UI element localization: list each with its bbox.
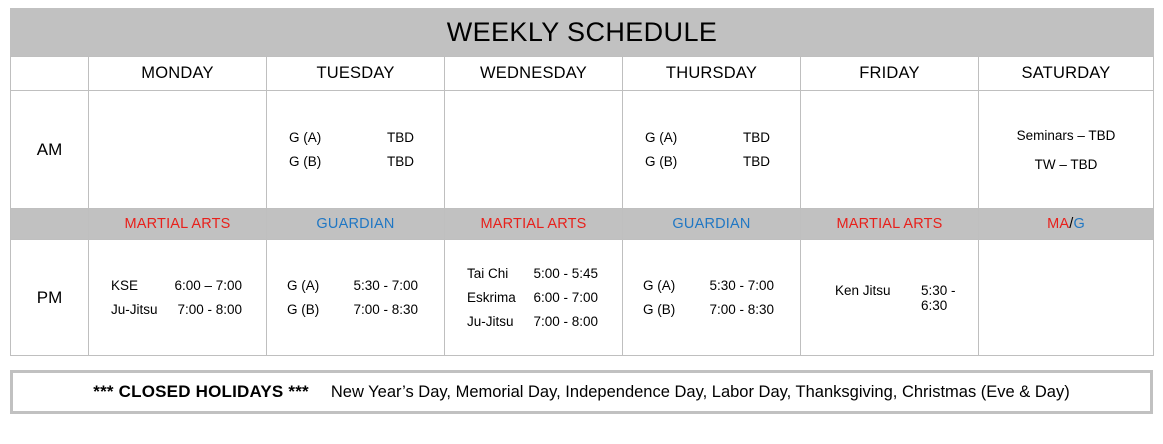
cell-am-friday <box>801 91 979 209</box>
schedule-entry: Ju-Jitsu 7:00 - 8:00 <box>111 302 246 317</box>
corner-header <box>11 57 89 91</box>
cell-pm-monday: KSE 6:00 – 7:00 Ju-Jitsu 7:00 - 8:00 <box>89 240 267 356</box>
entry-value: 5:30 - 6:30 <box>921 283 978 313</box>
entry-label: G (A) <box>287 278 319 293</box>
entry-label: G (A) <box>289 130 321 145</box>
day-header-wednesday: WEDNESDAY <box>445 57 623 91</box>
entry-label: Ju-Jitsu <box>467 314 514 329</box>
entry-value: 7:00 - 8:00 <box>177 302 246 317</box>
entry-label: Tai Chi <box>467 266 508 281</box>
schedule-entry: KSE 6:00 – 7:00 <box>111 278 246 293</box>
entry-value: 5:30 - 7:00 <box>709 278 778 293</box>
entry-value: 5:30 - 7:00 <box>353 278 422 293</box>
day-header-friday: FRIDAY <box>801 57 979 91</box>
schedule-entry: Ken Jitsu 5:30 - 6:30 <box>835 283 978 313</box>
discipline-band-row: MARTIAL ARTS GUARDIAN MARTIAL ARTS GUARD… <box>11 209 1154 240</box>
title-row: WEEKLY SCHEDULE <box>11 9 1154 57</box>
schedule-entry: G (B) TBD <box>289 154 418 169</box>
cell-am-thursday: G (A) TBD G (B) TBD <box>623 91 801 209</box>
entry-value: TBD <box>387 154 418 169</box>
entry-value: TBD <box>743 130 774 145</box>
entry-value: 6:00 – 7:00 <box>174 278 246 293</box>
schedule-entry: G (B) 7:00 - 8:30 <box>643 302 778 317</box>
schedule-entry: Seminars – TBD <box>979 128 1153 143</box>
band-label-saturday-guardian: G <box>1073 216 1084 232</box>
entry-label: G (B) <box>287 302 319 317</box>
entry-label: G (A) <box>645 130 677 145</box>
schedule-table: WEEKLY SCHEDULE MONDAY TUESDAY WEDNESDAY… <box>10 8 1154 356</box>
weekly-schedule-page: WEEKLY SCHEDULE MONDAY TUESDAY WEDNESDAY… <box>0 0 1163 444</box>
day-header-monday: MONDAY <box>89 57 267 91</box>
cell-pm-friday: Ken Jitsu 5:30 - 6:30 <box>801 240 979 356</box>
cell-am-wednesday <box>445 91 623 209</box>
entry-value: 7:00 - 8:00 <box>533 314 602 329</box>
schedule-entry: G (A) 5:30 - 7:00 <box>287 278 422 293</box>
closed-holidays-list: New Year’s Day, Memorial Day, Independen… <box>331 383 1070 402</box>
schedule-entry: Tai Chi 5:00 - 5:45 <box>467 266 602 281</box>
band-label-friday: MARTIAL ARTS <box>801 209 979 240</box>
schedule-entry: G (B) 7:00 - 8:30 <box>287 302 422 317</box>
entry-label: Ken Jitsu <box>835 283 921 313</box>
day-header-thursday: THURSDAY <box>623 57 801 91</box>
schedule-entry: Ju-Jitsu 7:00 - 8:00 <box>467 314 602 329</box>
schedule-entry: G (A) 5:30 - 7:00 <box>643 278 778 293</box>
entry-value: TBD <box>743 154 774 169</box>
band-label-saturday: MA/G <box>979 209 1154 240</box>
band-label-wednesday: MARTIAL ARTS <box>445 209 623 240</box>
band-label-tuesday: GUARDIAN <box>267 209 445 240</box>
day-header-tuesday: TUESDAY <box>267 57 445 91</box>
cell-pm-wednesday: Tai Chi 5:00 - 5:45 Eskrima 6:00 - 7:00 … <box>445 240 623 356</box>
cell-am-saturday: Seminars – TBD TW – TBD <box>979 91 1154 209</box>
entry-label: G (A) <box>643 278 675 293</box>
schedule-entry: G (A) TBD <box>645 130 774 145</box>
entry-label: G (B) <box>289 154 321 169</box>
band-label-monday: MARTIAL ARTS <box>89 209 267 240</box>
row-label-pm: PM <box>11 240 89 356</box>
pm-row: PM KSE 6:00 – 7:00 Ju-Jitsu 7:00 - 8:00 <box>11 240 1154 356</box>
entry-label: G (B) <box>643 302 675 317</box>
entry-value: 6:00 - 7:00 <box>533 290 602 305</box>
entry-label: G (B) <box>645 154 677 169</box>
band-corner <box>11 209 89 240</box>
entry-label: KSE <box>111 278 138 293</box>
cell-am-tuesday: G (A) TBD G (B) TBD <box>267 91 445 209</box>
band-label-saturday-ma: MA <box>1047 216 1069 232</box>
entry-value: 7:00 - 8:30 <box>353 302 422 317</box>
schedule-entry: G (B) TBD <box>645 154 774 169</box>
cell-am-monday <box>89 91 267 209</box>
schedule-entry: Eskrima 6:00 - 7:00 <box>467 290 602 305</box>
page-title: WEEKLY SCHEDULE <box>11 9 1154 57</box>
schedule-entry: G (A) TBD <box>289 130 418 145</box>
closed-holidays-heading: *** CLOSED HOLIDAYS *** <box>93 382 309 402</box>
entry-value: TBD <box>387 130 418 145</box>
schedule-entry: TW – TBD <box>979 157 1153 172</box>
entry-label: Eskrima <box>467 290 516 305</box>
day-header-saturday: SATURDAY <box>979 57 1154 91</box>
day-header-row: MONDAY TUESDAY WEDNESDAY THURSDAY FRIDAY… <box>11 57 1154 91</box>
row-label-am: AM <box>11 91 89 209</box>
closed-holidays-banner: *** CLOSED HOLIDAYS *** New Year’s Day, … <box>10 370 1153 414</box>
entry-value: 7:00 - 8:30 <box>709 302 778 317</box>
entry-value: 5:00 - 5:45 <box>533 266 602 281</box>
cell-pm-thursday: G (A) 5:30 - 7:00 G (B) 7:00 - 8:30 <box>623 240 801 356</box>
cell-pm-tuesday: G (A) 5:30 - 7:00 G (B) 7:00 - 8:30 <box>267 240 445 356</box>
entry-label: Ju-Jitsu <box>111 302 158 317</box>
am-row: AM G (A) TBD G (B) TBD <box>11 91 1154 209</box>
cell-pm-saturday <box>979 240 1154 356</box>
band-label-thursday: GUARDIAN <box>623 209 801 240</box>
